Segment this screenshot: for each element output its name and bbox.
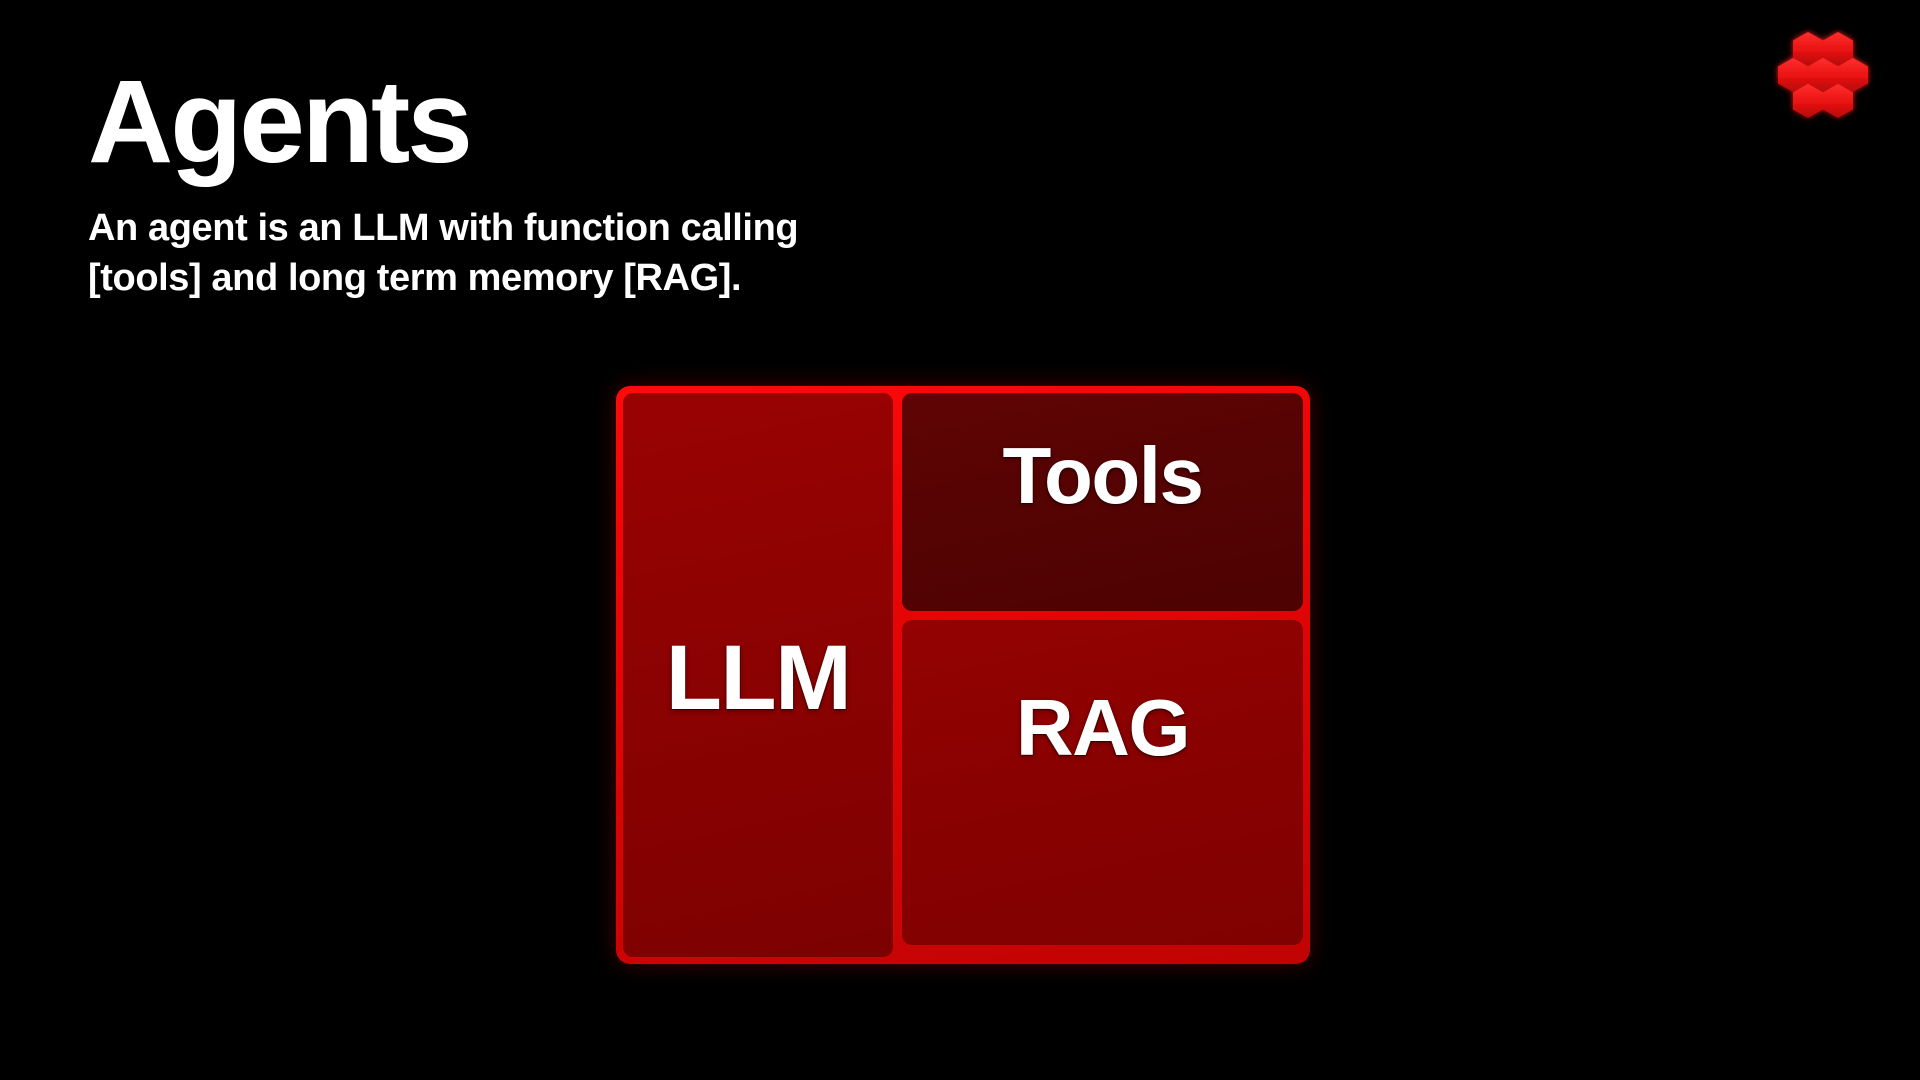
diagram-panel-llm[interactable]: LLM: [623, 393, 893, 957]
diagram-right-column: Tools RAG: [902, 393, 1303, 957]
subtitle-line-1: An agent is an LLM with function calling: [88, 204, 1018, 253]
slide-subtitle: An agent is an LLM with function calling…: [88, 204, 1018, 303]
diagram-panel-tools-label: Tools: [1003, 436, 1203, 516]
slide-root: Agents An agent is an LLM with function …: [0, 0, 1920, 1080]
page-title: Agents: [88, 62, 1288, 182]
agent-architecture-diagram: LLM Tools RAG: [616, 386, 1310, 964]
diagram-panel-rag-label: RAG: [1016, 688, 1189, 768]
diagram-panel-tools[interactable]: Tools: [902, 393, 1303, 611]
diagram-panel-rag[interactable]: RAG: [902, 620, 1303, 945]
heading-block: Agents An agent is an LLM with function …: [88, 62, 1288, 303]
diagram-panel-llm-label: LLM: [666, 632, 851, 724]
subtitle-line-2: [tools] and long term memory [RAG].: [88, 254, 1018, 303]
hexagon-cluster-logo: [1772, 28, 1888, 140]
